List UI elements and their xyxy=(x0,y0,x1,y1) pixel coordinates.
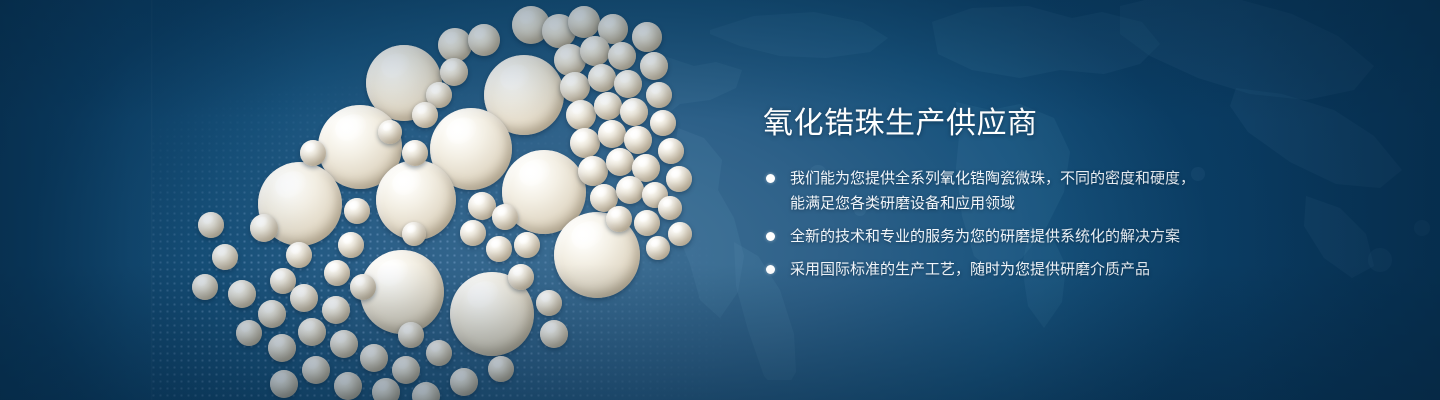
banner-vignette-overlay xyxy=(0,0,1440,400)
product-hero-banner: 氧化锆珠生产供应商 我们能为您提供全系列氧化锆陶瓷微珠，不同的密度和硬度， 能满… xyxy=(0,0,1440,400)
